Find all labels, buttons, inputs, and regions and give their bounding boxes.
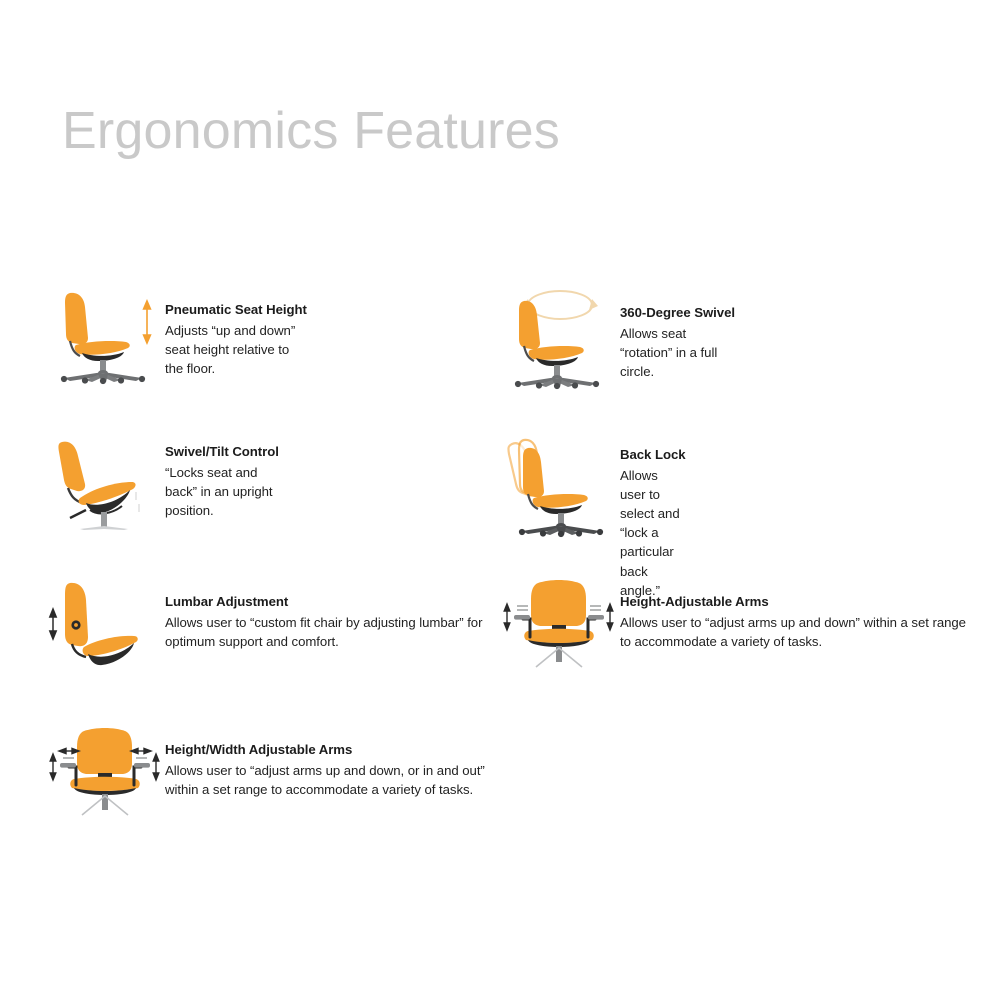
feature-title: 360-Degree Swivel xyxy=(620,304,735,322)
chair-front-arm-height-icon xyxy=(498,575,618,670)
feature-description: Allows user to “custom fit chair by adju… xyxy=(165,613,495,651)
feature-title: Pneumatic Seat Height xyxy=(165,301,307,319)
feature-text-block: Back Lock Allows user to select and “loc… xyxy=(620,446,686,600)
chair-side-back-angles-icon xyxy=(498,430,618,535)
feature-description: Allows user to “adjust arms up and down”… xyxy=(620,613,980,651)
feature-title: Swivel/Tilt Control xyxy=(165,443,279,461)
chair-side-rotation-arc-icon xyxy=(498,283,618,388)
page-root: Ergonomics Features xyxy=(0,0,1000,1001)
feature-text-block: 360-Degree Swivel Allows seat “rotation”… xyxy=(620,304,735,381)
chair-back-lumbar-knob-icon xyxy=(40,575,165,670)
chair-front-arm-height-width-icon xyxy=(40,723,165,818)
feature-description: Allows user to “adjust arms up and down,… xyxy=(165,761,505,799)
feature-title: Back Lock xyxy=(620,446,686,464)
feature-title: Lumbar Adjustment xyxy=(165,593,495,611)
feature-text-block: Pneumatic Seat Height Adjusts “up and do… xyxy=(165,301,307,378)
feature-description: Allows seat “rotation” in a full circle. xyxy=(620,324,735,381)
feature-text-block: Height-Adjustable Arms Allows user to “a… xyxy=(620,593,980,651)
chair-side-tilt-icon xyxy=(40,430,165,530)
features-grid: Pneumatic Seat Height Adjusts “up and do… xyxy=(0,0,1000,1001)
feature-title: Height/Width Adjustable Arms xyxy=(165,741,505,759)
feature-description: “Locks seat and back” in an upright posi… xyxy=(165,463,279,520)
feature-description: Adjusts “up and down” seat height relati… xyxy=(165,321,307,378)
chair-side-height-arrow-icon xyxy=(40,283,160,383)
feature-text-block: Swivel/Tilt Control “Locks seat and back… xyxy=(165,443,279,520)
feature-text-block: Height/Width Adjustable Arms Allows user… xyxy=(165,741,505,799)
feature-description: Allows user to select and “lock a partic… xyxy=(620,466,686,600)
feature-title: Height-Adjustable Arms xyxy=(620,593,980,611)
feature-text-block: Lumbar Adjustment Allows user to “custom… xyxy=(165,593,495,651)
